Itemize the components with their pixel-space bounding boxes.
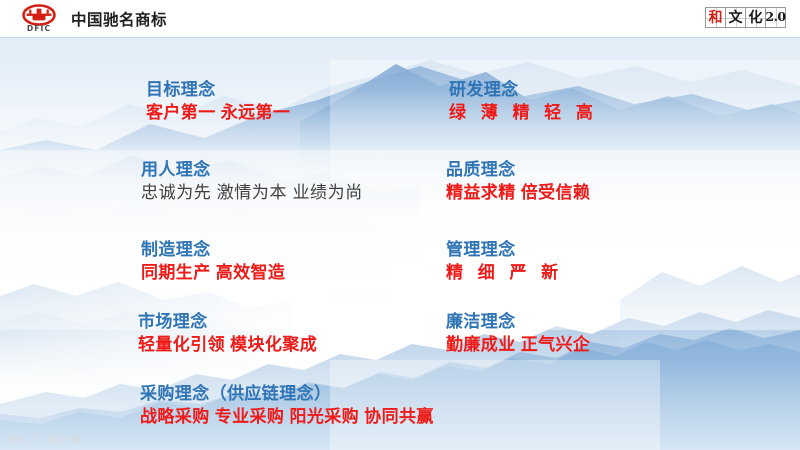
concept-value-rnd: 绿 薄 精 轻 高 (449, 101, 598, 124)
culture-badge-version: 2.0 (765, 7, 786, 28)
concept-heading-integrity: 廉洁理念 (446, 310, 590, 333)
presenter-controls (8, 433, 82, 445)
concept-block-integrity: 廉洁理念 勤廉成业 正气兴企 (446, 310, 590, 357)
concept-block-procurement: 采购理念（供应链理念） 战略采购 专业采购 阳光采购 协同共赢 (140, 382, 434, 429)
concept-value-management: 精 细 严 新 (446, 261, 563, 284)
slide-content: 目标理念 客户第一 永远第一 用人理念 忠诚为先 激情为本 业绩为尚 制造理念 … (0, 0, 800, 450)
concept-block-quality: 品质理念 精益求精 倍受信赖 (446, 158, 590, 205)
concept-value-integrity: 勤廉成业 正气兴企 (446, 333, 590, 356)
concept-heading-procurement: 采购理念（供应链理念） (140, 382, 434, 405)
concept-block-goal: 目标理念 客户第一 永远第一 (146, 78, 290, 125)
concept-block-market: 市场理念 轻量化引领 模块化聚成 (138, 310, 317, 357)
dfic-oval-logo-icon: DFIC (16, 4, 62, 33)
culture-char-wen: 文 (729, 11, 743, 25)
presentation-slide: DFIC 中国驰名商标 和 文 化 2.0 目标理念 客户第一 永远第一 (0, 0, 800, 450)
concept-block-manufacturing: 制造理念 同期生产 高效智造 (141, 238, 285, 285)
brand-group: DFIC 中国驰名商标 (16, 4, 167, 33)
culture-badge-char-3: 化 (745, 7, 766, 28)
concept-heading-management: 管理理念 (446, 238, 563, 261)
svg-text:DFIC: DFIC (27, 24, 51, 33)
concept-heading-goal: 目标理念 (146, 78, 290, 101)
concept-value-goal: 客户第一 永远第一 (146, 101, 290, 124)
previous-slide-icon[interactable] (8, 434, 21, 445)
concept-value-market: 轻量化引领 模块化聚成 (138, 333, 317, 356)
slide-header: DFIC 中国驰名商标 和 文 化 2.0 (0, 0, 800, 38)
culture-char-hua: 化 (749, 11, 763, 25)
slide-menu-icon[interactable] (49, 434, 61, 445)
concept-heading-market: 市场理念 (138, 310, 317, 333)
brand-title: 中国驰名商标 (71, 8, 167, 30)
culture-char-he: 和 (709, 11, 723, 25)
concept-block-talent: 用人理念 忠诚为先 激情为本 业绩为尚 (141, 158, 363, 205)
concept-heading-manufacturing: 制造理念 (141, 238, 285, 261)
pen-tool-icon[interactable] (29, 433, 41, 445)
concept-heading-rnd: 研发理念 (449, 78, 598, 101)
concept-heading-talent: 用人理念 (141, 158, 363, 181)
culture-badge-char-1: 和 (705, 7, 726, 28)
culture-badge: 和 文 化 2.0 (706, 7, 786, 28)
next-slide-icon[interactable] (69, 434, 82, 445)
culture-badge-char-2: 文 (725, 7, 746, 28)
concept-heading-quality: 品质理念 (446, 158, 590, 181)
concept-value-manufacturing: 同期生产 高效智造 (141, 261, 285, 284)
concept-block-management: 管理理念 精 细 严 新 (446, 238, 563, 285)
concept-value-procurement: 战略采购 专业采购 阳光采购 协同共赢 (140, 405, 434, 428)
concept-value-quality: 精益求精 倍受信赖 (446, 181, 590, 204)
culture-version-label: 2.0 (765, 11, 785, 24)
concept-value-talent: 忠诚为先 激情为本 业绩为尚 (141, 181, 363, 204)
concept-block-rnd: 研发理念 绿 薄 精 轻 高 (449, 78, 598, 125)
